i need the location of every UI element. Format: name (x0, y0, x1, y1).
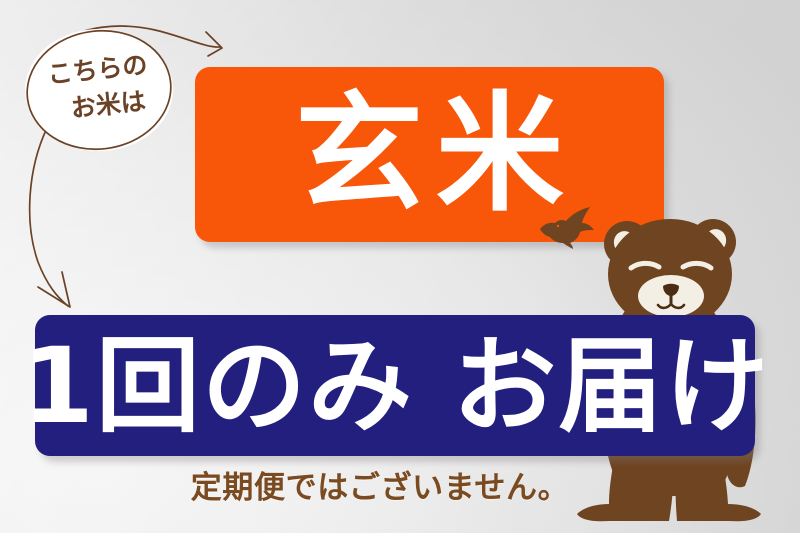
delivery-frequency-banner[interactable]: 1回のみ お届け (35, 315, 755, 456)
speech-bubble-shape (22, 26, 177, 156)
speech-bubble: こちらの お米は (22, 26, 177, 156)
product-type-label: 玄米 (282, 91, 576, 219)
poster-canvas: こちらの お米は 玄米 (0, 0, 800, 533)
delivery-frequency-label: 1回のみ お届け (19, 334, 770, 438)
subscription-disclaimer: 定期便ではございません。 (0, 462, 760, 507)
bear-head (604, 219, 736, 329)
